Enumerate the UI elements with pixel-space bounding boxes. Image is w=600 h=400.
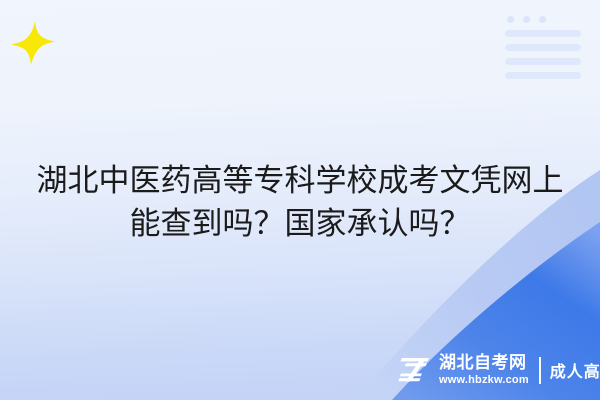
dots-and-lines-decoration-icon <box>505 16 581 79</box>
decoration-dot <box>507 16 514 23</box>
poster-canvas: 湖北中医药高等专科学校成考文凭网上 能查到吗？国家承认吗？ 湖北自考网 www.… <box>0 0 600 400</box>
brand-lockup: 湖北自考网 www.hbzkw.com 成人高考 <box>398 352 600 388</box>
sparkle-icon <box>9 19 57 67</box>
decoration-bar <box>505 72 581 79</box>
page-title: 湖北中医药高等专科学校成考文凭网上 能查到吗？国家承认吗？ <box>0 160 600 246</box>
page-title-line-2: 能查到吗？国家承认吗？ <box>0 203 600 246</box>
brand-divider <box>539 357 541 384</box>
hbzkw-z-logo-icon <box>398 355 432 385</box>
decoration-bar <box>505 58 581 65</box>
brand-name: 湖北自考网 <box>439 354 529 372</box>
decoration-bar <box>505 30 581 37</box>
decoration-dot-row <box>507 16 581 23</box>
decoration-bar <box>505 44 581 51</box>
page-title-line-1: 湖北中医药高等专科学校成考文凭网上 <box>0 160 600 203</box>
brand-text-block: 湖北自考网 www.hbzkw.com <box>439 354 529 387</box>
decoration-dot <box>539 16 546 23</box>
brand-url: www.hbzkw.com <box>439 374 529 387</box>
decoration-dot <box>523 16 530 23</box>
brand-tagline: 成人高考 <box>550 358 600 382</box>
